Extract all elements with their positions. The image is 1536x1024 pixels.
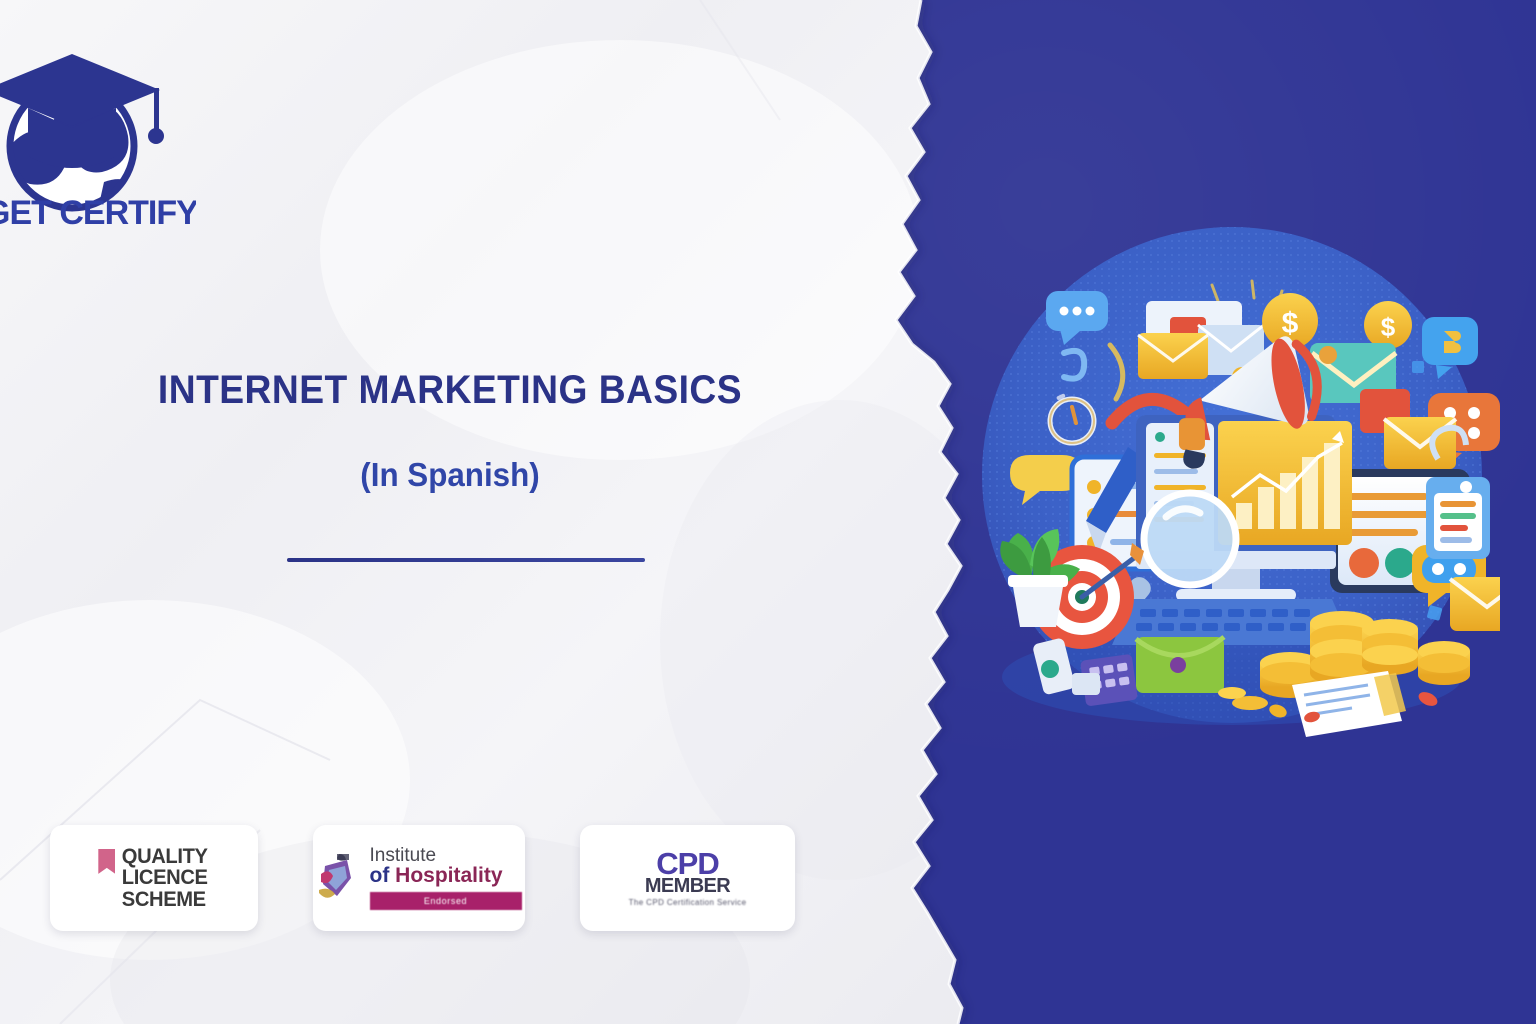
ioh-line-1: Institute [370, 846, 437, 865]
badge-institute-of-hospitality[interactable]: Institute of Hospitality Endorsed [313, 825, 525, 931]
dollar-coin-icon: $ [1364, 301, 1412, 349]
envelope-icon [1384, 417, 1456, 469]
crest-icon [317, 852, 363, 904]
brand-logo[interactable]: GET CERTIFY [0, 28, 196, 228]
svg-text:$: $ [1282, 307, 1299, 340]
cpd-line-2: MEMBER [645, 876, 730, 896]
page-title: INTERNET MARKETING BASICS [32, 368, 869, 412]
qls-line-1: QUALITY [122, 846, 208, 867]
accreditation-badges: QUALITY LICENCE SCHEME Institute [50, 825, 795, 931]
graduation-cap-globe-icon: GET CERTIFY [0, 28, 196, 228]
badge-quality-licence-scheme[interactable]: QUALITY LICENCE SCHEME [50, 825, 258, 931]
ioh-line-2a: of [370, 864, 390, 887]
poster-canvas: GET CERTIFY INTERNET MARKETING BASICS (I… [0, 0, 1536, 1024]
cpd-line-1: CPD [656, 849, 718, 878]
hero-text-block: INTERNET MARKETING BASICS (In Spanish) [0, 368, 900, 494]
envelope-icon [1450, 577, 1500, 631]
svg-text:$: $ [1381, 312, 1396, 342]
logo-wordmark: GET CERTIFY [0, 194, 196, 228]
bookmark-icon [98, 849, 115, 874]
cpd-line-3: The CPD Certification Service [629, 898, 747, 907]
ioh-line-2b: Hospitality [395, 864, 502, 887]
badge-cpd-member[interactable]: CPD MEMBER The CPD Certification Service [580, 825, 795, 931]
green-envelope-icon [1136, 637, 1224, 693]
qls-line-2: LICENCE [122, 867, 208, 888]
page-subtitle: (In Spanish) [23, 456, 878, 494]
small-block-icon [1072, 673, 1100, 695]
ioh-banner: Endorsed [370, 892, 522, 910]
digital-marketing-illustration: $ $ [960, 225, 1500, 745]
qls-line-3: SCHEME [122, 889, 208, 910]
title-divider [287, 558, 645, 562]
